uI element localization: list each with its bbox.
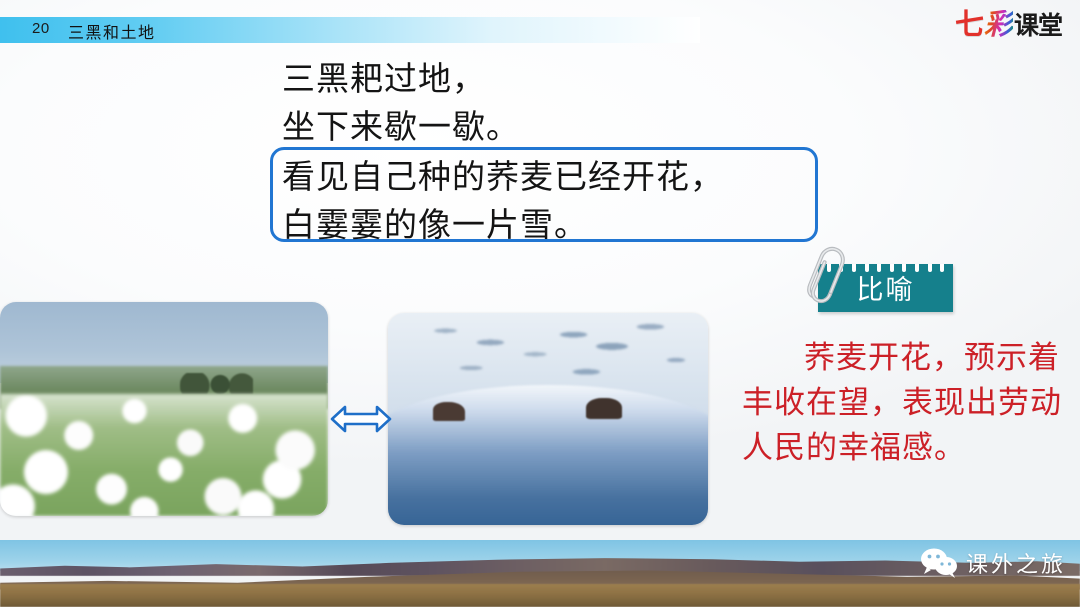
brand-logo: 七 彩 课堂 <box>955 10 1062 39</box>
explanation-text: 荞麦开花，预示着丰收在望，表现出劳动人民的幸福感。 <box>742 336 1072 471</box>
page-title: 三黑和土地 <box>68 19 156 43</box>
brand-char-qi: 七 <box>955 10 983 39</box>
poem-line-3: 看见自己种的荞麦已经开花， <box>282 150 724 198</box>
double-arrow-icon <box>330 402 392 436</box>
wechat-icon <box>920 547 958 579</box>
brand-text-ketang: 课堂 <box>1014 13 1062 38</box>
photo-rock-left <box>433 402 465 421</box>
photo-trees <box>180 373 252 394</box>
landscape-photo-strip <box>0 540 1080 607</box>
photo-flower-field <box>0 394 328 516</box>
brand-char-cai: 彩 <box>983 10 1013 39</box>
slide-canvas: 20 三黑和土地 七 彩 课堂 三黑耙过地， 坐下来歇一歇。 看见自己种的荞麦已… <box>0 0 1080 607</box>
watermark-text: 课外之旅 <box>966 547 1066 579</box>
watermark: 课外之旅 <box>920 547 1066 579</box>
poem-line-4: 白霎霎的像一片雪。 <box>282 198 588 246</box>
poem-line-1: 三黑耙过地， <box>282 52 486 100</box>
strip-field <box>0 584 1080 607</box>
lesson-number: 20 <box>32 20 50 37</box>
snow-field-photo <box>388 313 708 525</box>
poem-line-2: 坐下来歇一歇。 <box>282 100 520 148</box>
buckwheat-field-photo <box>0 302 328 516</box>
photo-rock-right <box>586 398 621 419</box>
